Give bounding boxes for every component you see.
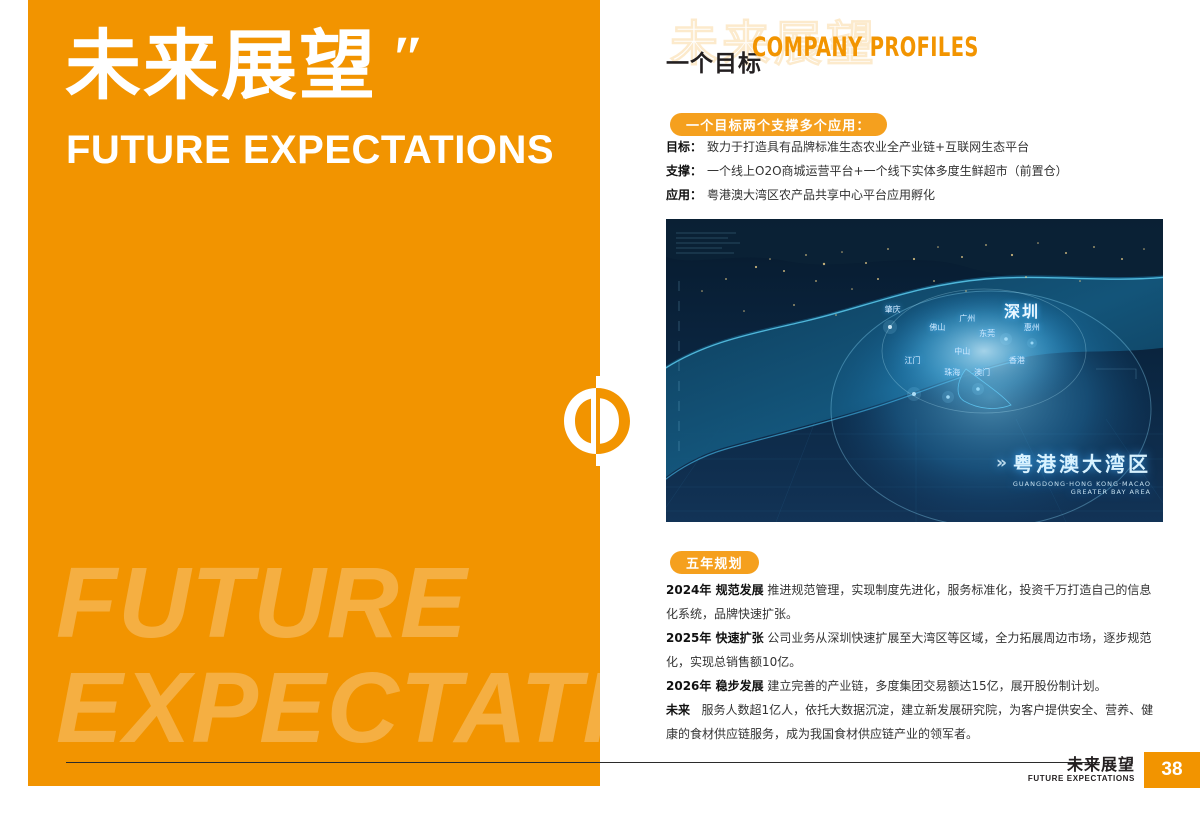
goal-row-value: 致力于打造具有品牌标准生态农业全产业链+互联网生态平台: [707, 140, 1029, 154]
page-title-english: COMPANY PROFILES: [752, 32, 979, 63]
plan-item-text: 建立完善的产业链，多度集团交易额达15亿，展开股份制计划。: [767, 679, 1106, 693]
goal-row-value: 一个线上O2O商城运营平台+一个线下实体多度生鲜超市（前置仓）: [707, 164, 1068, 178]
goal-section-badge: 一个目标两个支撑多个应用：: [670, 113, 887, 136]
brochure-spread: FUTURE EXPECTATIO 未来展望″ FUTURE EXPECTATI…: [0, 0, 1200, 814]
plan-item: 未来 服务人数超1亿人，依托大数据沉淀，建立新发展研究院，为客户提供安全、营养、…: [666, 698, 1160, 746]
goal-row: 目标：致力于打造具有品牌标准生态农业全产业链+互联网生态平台: [666, 138, 1029, 155]
plan-item-text: 服务人数超1亿人，依托大数据沉淀，建立新发展研究院，为客户提供安全、营养、健康的…: [666, 703, 1153, 741]
plan-item-year: 2024年 规范发展: [666, 583, 764, 597]
cover-title-english: FUTURE EXPECTATIONS: [66, 128, 554, 173]
cover-watermark-line2: EXPECTATIO: [56, 658, 600, 758]
footer-label: 未来展望 FUTURE EXPECTATIONS: [1028, 752, 1144, 788]
cover-watermark-line1: FUTURE: [56, 553, 468, 653]
footer-label-english: FUTURE EXPECTATIONS: [1028, 775, 1135, 784]
goal-row: 应用：粤港澳大湾区农产品共享中心平台应用孵化: [666, 186, 935, 203]
greater-bay-area-map-image: 深圳 肇庆 广州 佛山 东莞 惠州 中山 江门 珠海 澳门 香港 » 粤港澳大湾…: [666, 219, 1163, 522]
content-page: 未来展望 一个目标 COMPANY PROFILES 一个目标两个支撑多个应用：…: [600, 0, 1200, 814]
goal-row: 支撑：一个线上O2O商城运营平台+一个线下实体多度生鲜超市（前置仓）: [666, 162, 1068, 179]
plan-item-year: 2026年 稳步发展: [666, 679, 764, 693]
cover-title-chinese-text: 未来展望: [65, 21, 377, 110]
plan-list: 2024年 规范发展 推进规范管理，实现制度先进化，服务标准化，投资千万打造自己…: [666, 578, 1160, 746]
page-header: 未来展望 一个目标 COMPANY PROFILES: [666, 8, 1146, 78]
quote-mark-icon: ″: [391, 24, 427, 95]
footer-divider: [66, 762, 1100, 763]
footer-label-chinese: 未来展望: [1028, 756, 1135, 774]
plan-item: 2026年 稳步发展 建立完善的产业链，多度集团交易额达15亿，展开股份制计划。: [666, 674, 1160, 698]
plan-item-year: 2025年 快速扩张: [666, 631, 764, 645]
cover-panel: FUTURE EXPECTATIO 未来展望″ FUTURE EXPECTATI…: [28, 0, 600, 786]
goal-row-key: 应用：: [666, 188, 702, 202]
page-title: 一个目标: [666, 44, 762, 78]
page-number: 38: [1144, 752, 1200, 788]
cover-title-chinese: 未来展望″: [65, 22, 427, 109]
plan-item: 2024年 规范发展 推进规范管理，实现制度先进化，服务标准化，投资千万打造自己…: [666, 578, 1160, 626]
goal-row-key: 支撑：: [666, 164, 702, 178]
goal-row-value: 粤港澳大湾区农产品共享中心平台应用孵化: [707, 188, 935, 202]
page-footer: 未来展望 FUTURE EXPECTATIONS 38: [1028, 752, 1200, 788]
plan-item: 2025年 快速扩张 公司业务从深圳快速扩展至大湾区等区域，全力拓展周边市场，逐…: [666, 626, 1160, 674]
plan-section-badge: 五年规划: [670, 551, 759, 574]
goal-row-key: 目标：: [666, 140, 702, 154]
plan-item-year: 未来: [666, 703, 690, 717]
